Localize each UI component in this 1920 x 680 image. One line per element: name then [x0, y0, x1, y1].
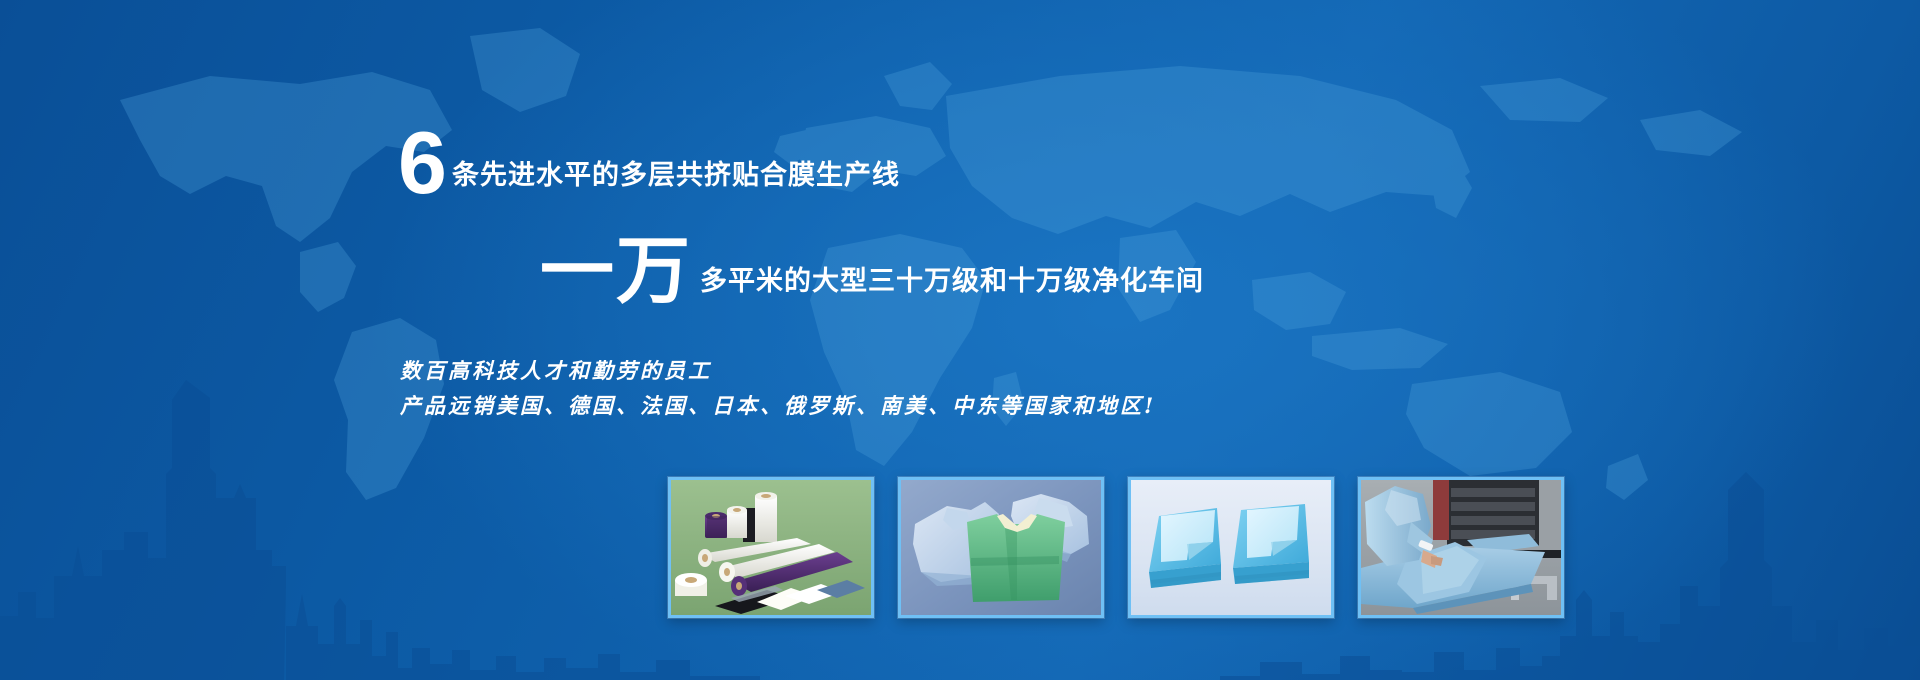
headline-1-text: 条先进水平的多层共挤贴合膜生产线: [452, 153, 900, 200]
headline-1-number: 6: [398, 126, 445, 200]
gallery-item-surgical-gowns[interactable]: [898, 477, 1104, 618]
headline-2-number: 一万: [540, 240, 692, 304]
gallery-item-operating-bed[interactable]: [1358, 477, 1564, 618]
gallery-item-film-rolls[interactable]: [668, 477, 874, 618]
subline-export: 产品远销美国、德国、法国、日本、俄罗斯、南美、中东等国家和地区!: [400, 390, 1156, 420]
headline-2-text: 多平米的大型三十万级和十万级净化车间: [700, 259, 1204, 304]
subline-staff: 数百高科技人才和勤劳的员工: [400, 355, 712, 385]
gallery-item-drape-sheets[interactable]: [1128, 477, 1334, 618]
product-gallery: [668, 477, 1564, 618]
headline-line-2: 一万 多平米的大型三十万级和十万级净化车间: [540, 240, 1204, 304]
headline-line-1: 6 条先进水平的多层共挤贴合膜生产线: [398, 126, 900, 200]
promo-banner: 6 条先进水平的多层共挤贴合膜生产线 一万 多平米的大型三十万级和十万级净化车间…: [0, 0, 1920, 680]
